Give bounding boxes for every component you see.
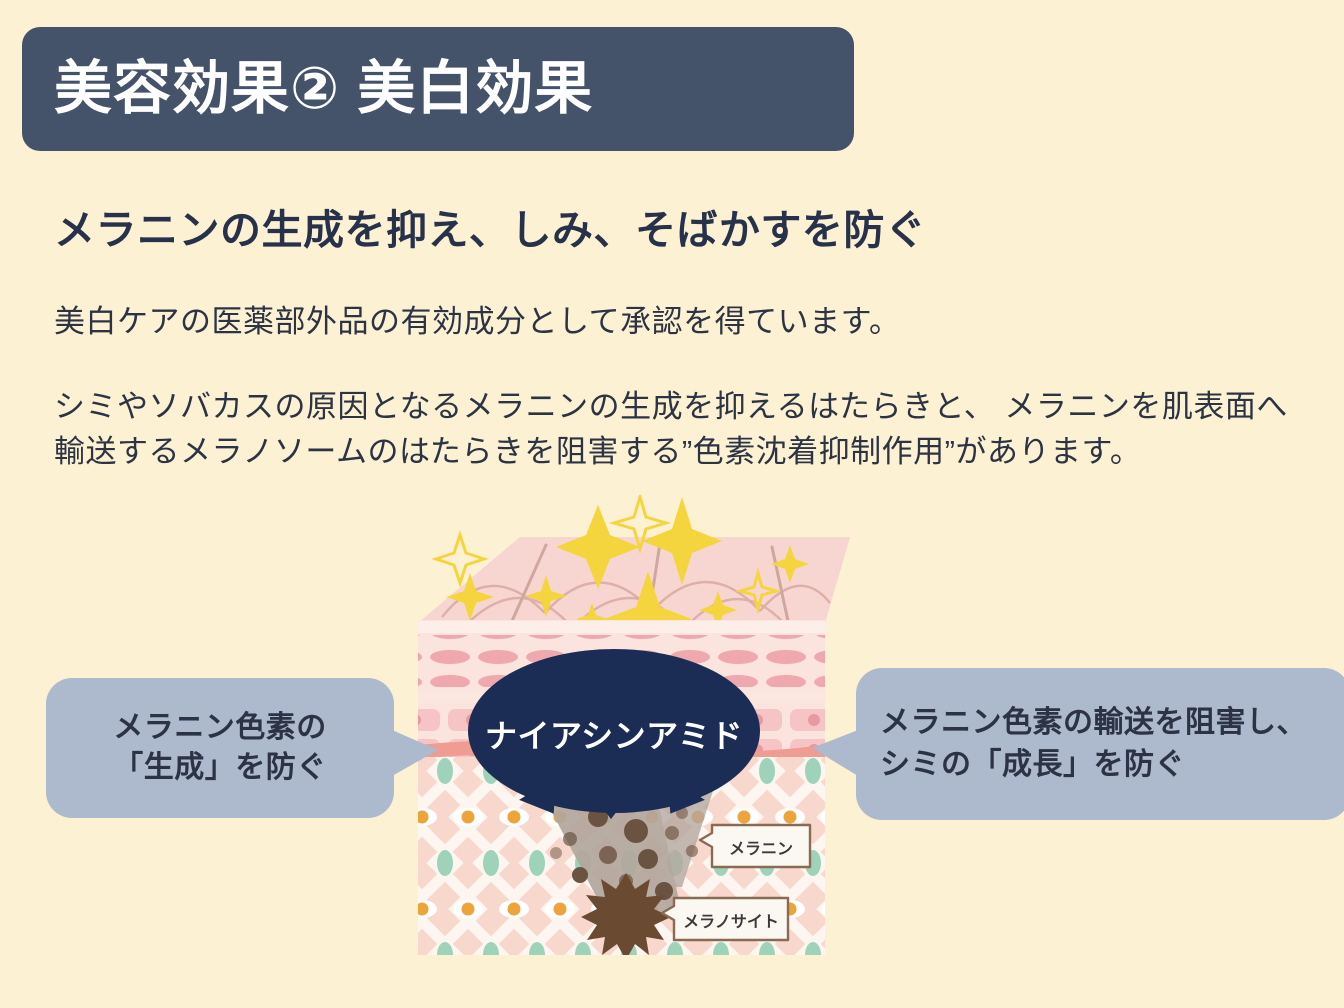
callout-left-line1: メラニン色素の	[113, 708, 327, 749]
callout-right-line1: メラニン色素の輸送を阻害し、	[880, 702, 1344, 744]
melanocyte-label	[662, 898, 788, 940]
paragraph-2: シミやソバカスの原因となるメラニンの生成を抑えるはたらきと、 メラニンを肌表面へ…	[54, 385, 1312, 475]
subheading: メラニンの生成を抑え、しみ、そばかすを防ぐ	[54, 196, 926, 256]
callout-right-line2: シミの「成長」を防ぐ	[880, 744, 1344, 786]
page-title: 美容効果② 美白効果	[54, 60, 593, 118]
callout-bubble-right: メラニン色素の輸送を阻害し、 シミの「成長」を防ぐ	[856, 668, 1344, 820]
ingredient-badge	[468, 649, 760, 813]
slide-root: 美容効果② 美白効果 メラニンの生成を抑え、しみ、そばかすを防ぐ 美白ケアの医薬…	[0, 0, 1344, 1008]
paragraph-1: 美白ケアの医薬部外品の有効成分として承認を得ています。	[54, 300, 1294, 345]
callout-right-tail	[812, 730, 858, 776]
melanin-label	[700, 825, 810, 867]
title-banner: 美容効果② 美白効果	[22, 27, 854, 151]
callout-left-tail	[392, 730, 438, 776]
callout-bubble-left: メラニン色素の 「生成」を防ぐ	[46, 678, 394, 818]
callout-left-line2: 「生成」を防ぐ	[113, 748, 327, 789]
